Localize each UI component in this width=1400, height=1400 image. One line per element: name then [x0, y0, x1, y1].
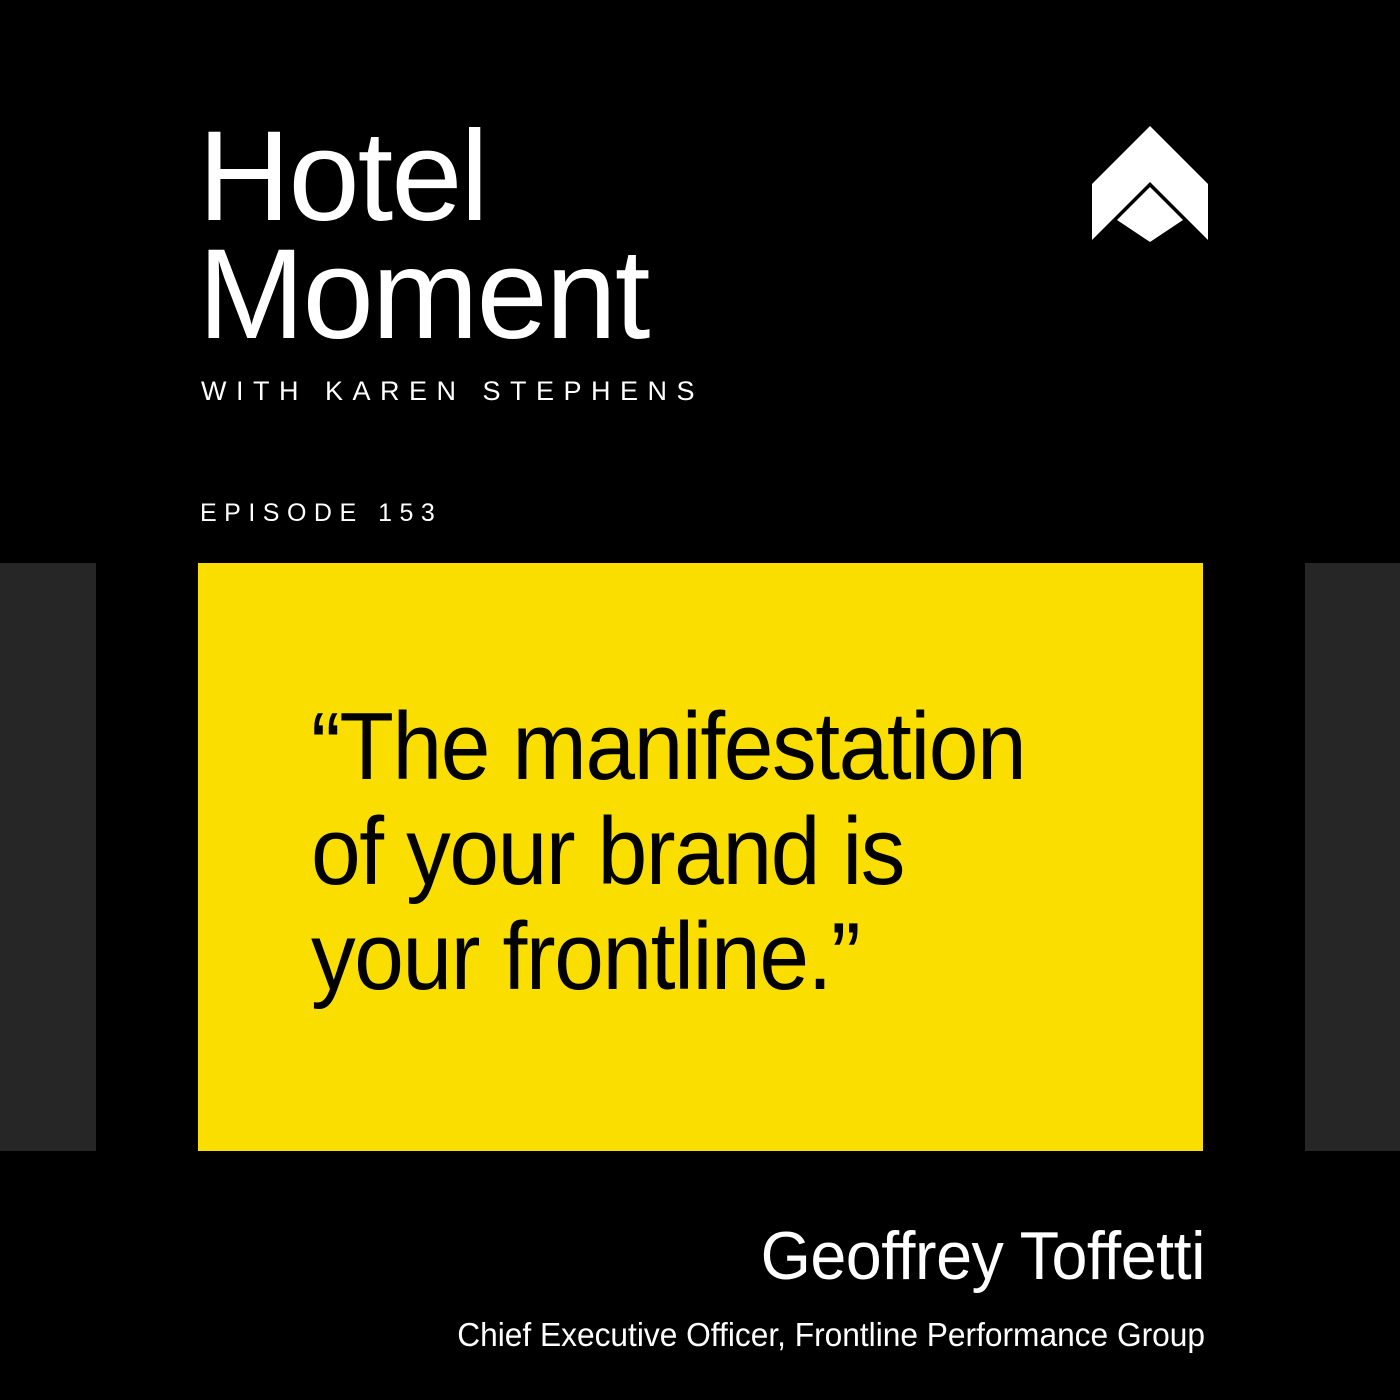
chevron-diamond-logo-icon: [1092, 126, 1208, 242]
podcast-cover-art: Hotel Moment WITH KAREN STEPHENS EPISODE…: [0, 0, 1400, 1400]
show-header: Hotel Moment WITH KAREN STEPHENS: [198, 118, 1208, 407]
quote-card: “The manifestation of your brand is your…: [198, 563, 1203, 1151]
left-gray-panel: [0, 563, 96, 1151]
quote-text: “The manifestation of your brand is your…: [311, 694, 1083, 1009]
show-subtitle: WITH KAREN STEPHENS: [201, 376, 1208, 407]
speaker-block: Geoffrey Toffetti Chief Executive Office…: [305, 1222, 1205, 1351]
speaker-title: Chief Executive Officer, Frontline Perfo…: [341, 1318, 1205, 1351]
speaker-name: Geoffrey Toffetti: [350, 1222, 1205, 1290]
show-title: Hotel Moment: [198, 118, 1208, 354]
right-gray-panel: [1305, 563, 1400, 1151]
episode-label: EPISODE 153: [200, 499, 442, 528]
